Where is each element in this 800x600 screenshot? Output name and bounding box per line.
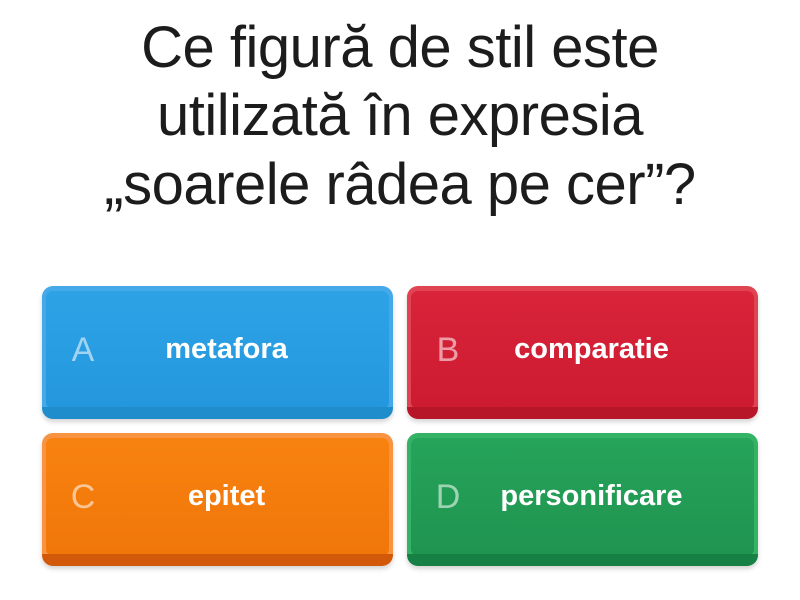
answer-option-c-face: C epitet xyxy=(46,438,389,556)
answer-option-c-letter: C xyxy=(46,480,120,514)
answer-option-d-label: personificare xyxy=(485,481,754,513)
answer-option-a-label: metafora xyxy=(120,334,389,366)
answer-options-grid: A metafora B comparatie C epitet D perso… xyxy=(42,286,758,566)
quiz-screen: Ce figură de stil este utilizată în expr… xyxy=(0,0,800,600)
answer-option-a[interactable]: A metafora xyxy=(42,286,393,419)
answer-option-c[interactable]: C epitet xyxy=(42,433,393,566)
answer-option-b-bevel xyxy=(407,407,758,419)
answer-option-a-bevel xyxy=(42,407,393,419)
answer-option-d[interactable]: D personificare xyxy=(407,433,758,566)
answer-option-b[interactable]: B comparatie xyxy=(407,286,758,419)
answer-option-b-letter: B xyxy=(411,333,485,367)
answer-option-a-letter: A xyxy=(46,333,120,367)
answer-option-d-bevel xyxy=(407,554,758,566)
answer-option-b-label: comparatie xyxy=(485,334,754,366)
answer-option-a-face: A metafora xyxy=(46,291,389,409)
answer-option-d-letter: D xyxy=(411,480,485,514)
answer-option-c-label: epitet xyxy=(120,481,389,513)
answer-option-b-face: B comparatie xyxy=(411,291,754,409)
answer-option-c-bevel xyxy=(42,554,393,566)
question-text: Ce figură de stil este utilizată în expr… xyxy=(0,14,800,219)
answer-option-d-face: D personificare xyxy=(411,438,754,556)
